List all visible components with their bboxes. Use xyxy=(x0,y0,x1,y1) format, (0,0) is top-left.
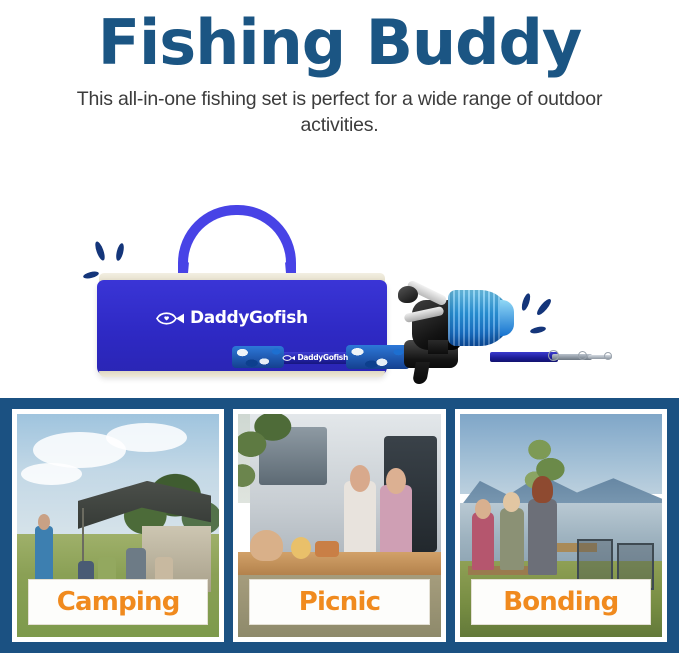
page-title: Fishing Buddy xyxy=(98,8,582,78)
use-case-card-bonding[interactable]: Bonding xyxy=(455,409,667,642)
water-splash-icon xyxy=(673,6,679,66)
person-head xyxy=(475,499,491,519)
page-subtitle: This all-in-one fishing set is perfect f… xyxy=(70,86,610,138)
bag-brand-text: DaddyGofish xyxy=(190,308,308,328)
child-in-pink xyxy=(472,512,494,570)
foliage xyxy=(238,414,299,503)
rod-brand-text: DaddyGofish xyxy=(297,353,348,362)
camping-label: Camping xyxy=(57,589,180,615)
page-title-container: Fishing Buddy xyxy=(0,8,679,78)
picnic-label: Picnic xyxy=(299,589,380,615)
hero-section: Fishing Buddy This all-in-one fishing se… xyxy=(0,0,679,398)
rod-line-guide xyxy=(548,350,559,361)
person-head-red-hair xyxy=(532,476,552,503)
picnic-label-band: Picnic xyxy=(249,579,429,625)
bonding-label-band: Bonding xyxy=(471,579,651,625)
picnic-basket xyxy=(250,530,282,561)
use-case-card-camping[interactable]: Camping xyxy=(12,409,224,642)
use-case-card-list: Camping Picnic xyxy=(12,409,667,642)
adult-in-sweater xyxy=(528,499,556,575)
child-in-green xyxy=(500,508,524,570)
rod-camo-grip-rear xyxy=(346,345,410,369)
cloud xyxy=(21,463,82,485)
fish-heart-logo-icon xyxy=(155,310,185,327)
person-head xyxy=(350,465,370,492)
rod-line-guide xyxy=(578,351,587,360)
food-item xyxy=(291,537,311,559)
rod-tip-guide xyxy=(604,352,612,360)
bread-loaf xyxy=(315,541,339,557)
cloud xyxy=(106,423,187,452)
bonding-label: Bonding xyxy=(503,589,618,615)
person-standing xyxy=(35,526,53,584)
bag-brand-logo: DaddyGofish xyxy=(155,306,335,330)
person-woman xyxy=(344,481,376,557)
reel-handle-knob xyxy=(398,286,418,303)
reel-foot xyxy=(428,340,448,354)
bag-base-trim xyxy=(99,371,385,377)
rod-brand-logo: DaddyGofish xyxy=(282,351,348,364)
person-child xyxy=(380,485,412,556)
fish-heart-logo-icon xyxy=(282,354,295,362)
rod-camo-grip-front xyxy=(232,346,284,368)
camping-label-band: Camping xyxy=(28,579,208,625)
water-splash-icon-right xyxy=(508,288,568,344)
use-case-card-picnic[interactable]: Picnic xyxy=(233,409,445,642)
